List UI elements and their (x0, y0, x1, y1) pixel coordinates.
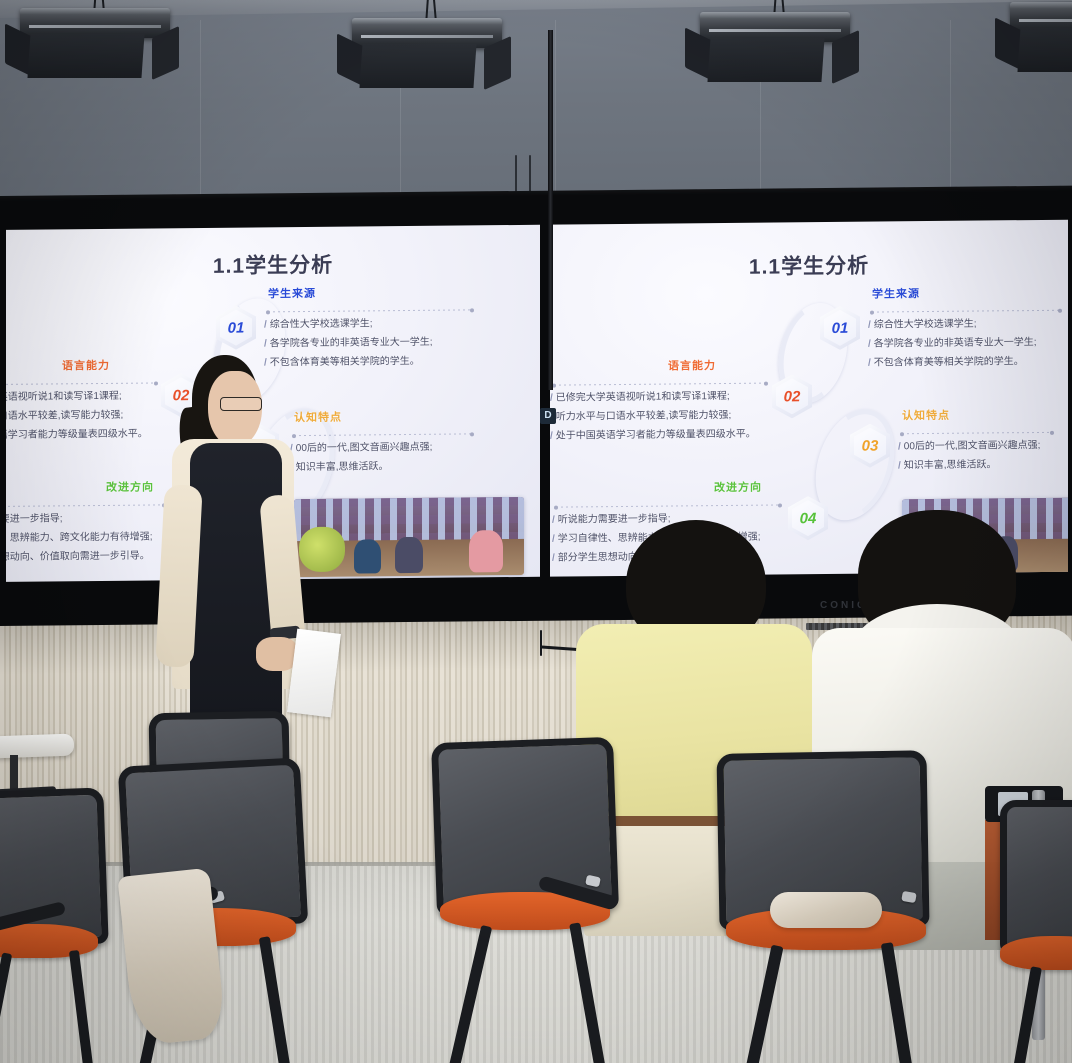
wall-seam (555, 20, 556, 212)
chair-far-left[interactable] (0, 790, 120, 1060)
heading-rule (268, 309, 472, 312)
chair-leg (69, 950, 97, 1063)
chair-leg (443, 925, 492, 1063)
heading-rule (902, 432, 1052, 434)
screen-divider (548, 30, 553, 390)
bullet: 处于中国英语学习者能力等级量表四级水平。 (6, 425, 148, 446)
chair-center[interactable] (428, 740, 628, 1060)
stage-light-2 (352, 0, 502, 92)
bullet: 听力水平与口语水平较差,读写能力较强; (6, 406, 148, 427)
step-heading-03: 认知特点 (902, 407, 950, 423)
bullet: 已修完大学英语视听说1和读写译1课程; (6, 387, 148, 408)
bullet: 00后的一代,图文音画兴趣点强; (290, 438, 432, 458)
step-bullets-02: 已修完大学英语视听说1和读写译1课程; 听力水平与口语水平较差,读写能力较强; … (6, 387, 148, 446)
step-hex-01: 01 (820, 306, 860, 350)
chair-far-right[interactable] (1000, 800, 1072, 1060)
step-hex-03: 03 (850, 423, 890, 467)
chair-leg (0, 952, 12, 1063)
bullet: 00后的一代,图文音画兴趣点强; (898, 436, 1040, 456)
presenter (160, 355, 310, 755)
step-heading-02: 语言能力 (62, 357, 110, 373)
bullet: 各学院各专业的非英语专业大一学生; (264, 333, 433, 354)
step-hex-02: 02 (772, 374, 812, 418)
bullet: 不包含体育美等相关学院的学生。 (868, 352, 1037, 373)
bullet: 各学院各专业的非英语专业大一学生; (868, 333, 1037, 354)
chair-leg (259, 936, 296, 1063)
glasses-icon (220, 397, 262, 411)
step-heading-04: 改进方向 (106, 478, 154, 494)
stage-light-1 (20, 0, 170, 82)
step-bullets-02: 已修完大学英语视听说1和读写译1课程; 听力水平与口语水平较差,读写能力较强; … (550, 387, 756, 446)
chair-leg (736, 945, 783, 1063)
slide-photo (294, 497, 524, 577)
chair-right[interactable] (718, 752, 948, 1063)
stage-light-3 (700, 0, 850, 86)
bullet: 知识丰富,思维活跃。 (898, 455, 1040, 475)
chair-seat (1000, 936, 1072, 970)
bullet: 综合性大学校选课学生; (868, 314, 1037, 335)
slide-title: 1.1学生分析 (550, 248, 1068, 283)
bullet: 部分学生思想动向、价值取向需进一步引导。 (6, 546, 153, 567)
screen-seam-badge: D (540, 408, 556, 424)
chair-leg (881, 942, 919, 1063)
display-cable (540, 630, 542, 656)
step-bullets-03: 00后的一代,图文音画兴趣点强; 知识丰富,思维活跃。 (898, 436, 1040, 475)
step-bullets-03: 00后的一代,图文音画兴趣点强; 知识丰富,思维活跃。 (290, 438, 432, 477)
step-heading-01: 学生来源 (268, 285, 316, 301)
photo-person (395, 537, 423, 573)
chair-backrest (1000, 800, 1072, 954)
slide-title: 1.1学生分析 (6, 247, 540, 282)
step-heading-01: 学生来源 (872, 285, 920, 301)
heading-rule (6, 504, 164, 507)
classroom-photo: 1.1学生分析 01 学生来源 综合性大学校选课学生; 各学院各专业的非英语专业… (0, 0, 1072, 1063)
heading-rule (6, 382, 156, 385)
heading-rule (556, 504, 780, 507)
step-heading-02: 语言能力 (668, 357, 716, 373)
stage-light-4 (1010, 0, 1072, 76)
step-bullets-04: 听说能力需要进一步指导; 学习自律性、思辨能力、跨文化能力有待增强; 部分学生思… (6, 508, 153, 567)
bullet: 学习自律性、思辨能力、跨文化能力有待增强; (6, 527, 153, 548)
step-heading-04: 改进方向 (714, 479, 762, 495)
photo-person (354, 539, 382, 574)
light-body (27, 34, 144, 78)
bullet: 听力水平与口语水平较差,读写能力较强; (550, 406, 756, 427)
bullet: 听说能力需要进一步指导; (6, 508, 153, 529)
light-body (707, 38, 824, 82)
chair-seat (0, 924, 98, 958)
bullet: 处于中国英语学习者能力等级量表四级水平。 (550, 425, 756, 446)
bullet: 综合性大学校选课学生; (264, 314, 433, 335)
chair-leg (1005, 966, 1042, 1063)
bullet: 已修完大学英语视听说1和读写译1课程; (550, 387, 756, 408)
photo-person (469, 530, 504, 572)
step-hex-01: 01 (216, 305, 256, 349)
heading-rule (554, 383, 766, 386)
wall-seam (200, 20, 201, 212)
side-table-stem (10, 755, 18, 791)
bullet: 知识丰富,思维活跃。 (290, 457, 432, 477)
item-on-seat (770, 892, 882, 928)
light-body (359, 44, 476, 88)
heading-rule (872, 310, 1060, 313)
light-body (1017, 28, 1072, 72)
wall-seam (950, 20, 951, 212)
chair-leg (569, 922, 610, 1063)
step-bullets-01: 综合性大学校选课学生; 各学院各专业的非英语专业大一学生; 不包含体育美等相关学… (868, 314, 1037, 373)
